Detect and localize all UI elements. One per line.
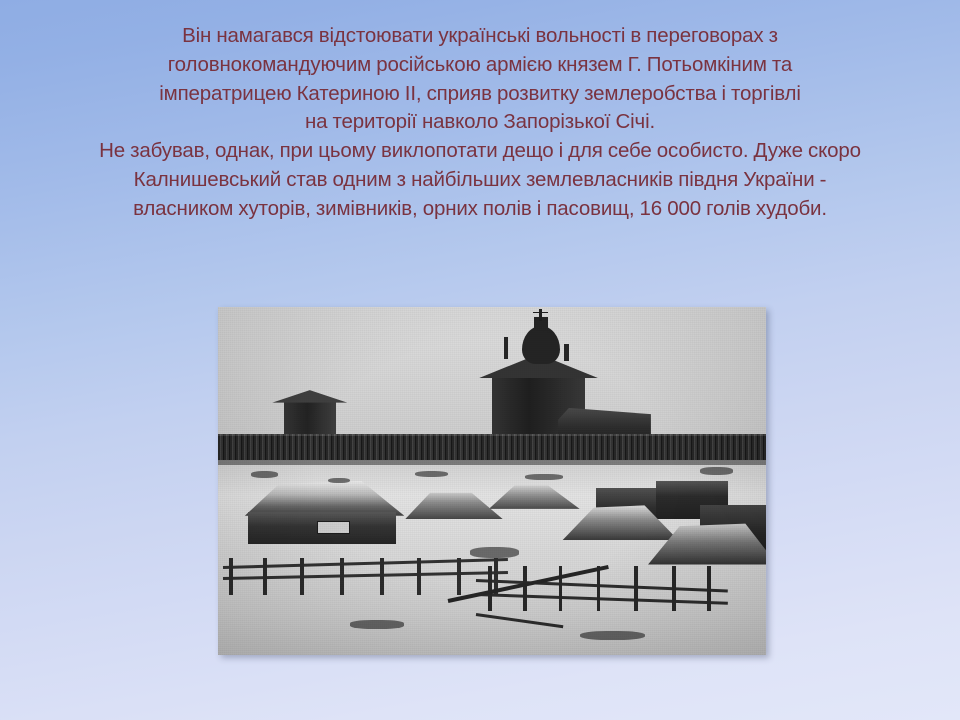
photo-vignette [218, 307, 766, 655]
text-line: імператрицею Катериною II, сприяв розвит… [44, 80, 916, 109]
text-line: власником хуторів, зимівників, орних пол… [44, 195, 916, 224]
historic-photo-frame [218, 307, 766, 655]
text-line: Калнишевський став одним з найбільших зе… [44, 166, 916, 195]
text-line: на території навколо Запорізької Січі. [44, 108, 916, 137]
text-line: Не забував, однак, при цьому виклопотати… [44, 137, 916, 166]
slide-canvas: Він намагався відстоювати українські вол… [0, 0, 960, 720]
text-line: Він намагався відстоювати українські вол… [44, 22, 916, 51]
slide-body-text: Він намагався відстоювати українські вол… [44, 22, 916, 224]
paragraph-1: Він намагався відстоювати українські вол… [44, 22, 916, 137]
paragraph-2: Не забував, однак, при цьому виклопотати… [44, 137, 916, 223]
zaporizhian-sich-photo [218, 307, 766, 655]
text-line: головнокомандуючим російською армією кня… [44, 51, 916, 80]
